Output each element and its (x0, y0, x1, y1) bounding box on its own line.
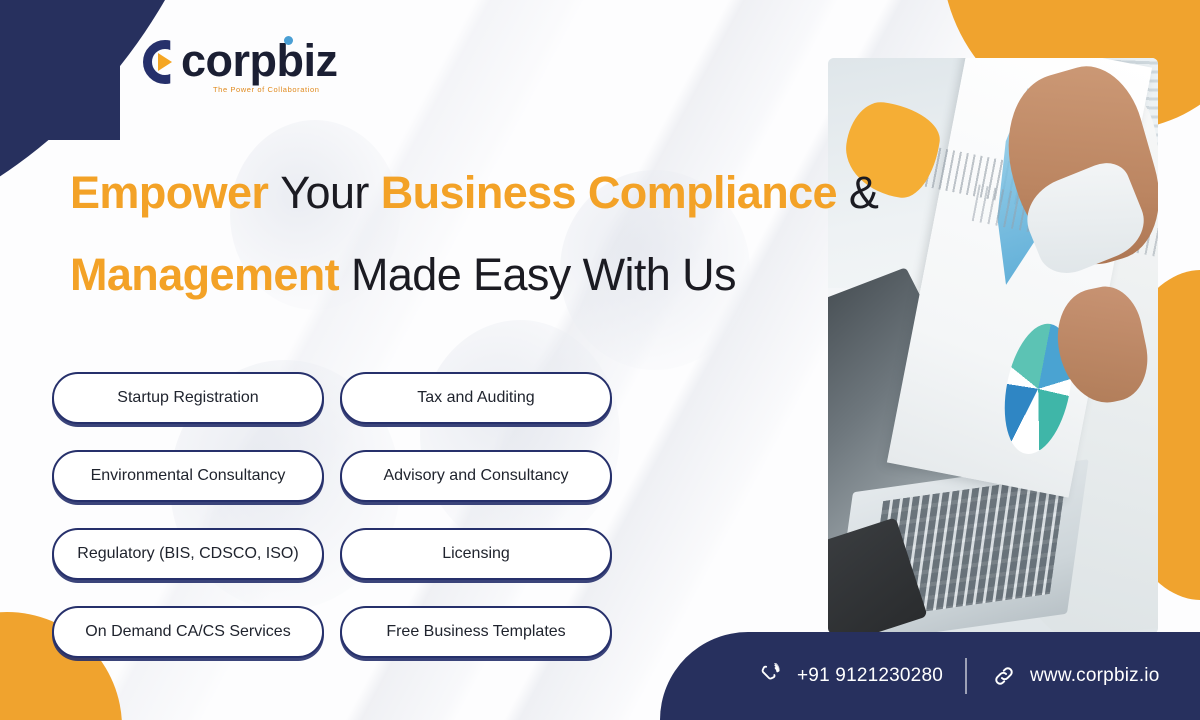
service-pill-environmental-consultancy[interactable]: Environmental Consultancy (52, 450, 324, 502)
contact-website[interactable]: www.corpbiz.io (989, 661, 1160, 691)
marketing-banner: corpbiz The Power of Collaboration Empow… (0, 0, 1200, 720)
logo-tagline: The Power of Collaboration (213, 85, 319, 94)
service-pill-licensing[interactable]: Licensing (340, 528, 612, 580)
headline-phrase-business-compliance: Business Compliance (381, 167, 837, 218)
contact-phone[interactable]: +91 9121230280 (756, 661, 943, 691)
contact-website-url: www.corpbiz.io (1030, 665, 1160, 687)
service-pill-tax-and-auditing[interactable]: Tax and Auditing (340, 372, 612, 424)
contact-divider (965, 658, 967, 694)
headline-word-your: Your (280, 167, 369, 218)
logo-blue-dot-icon (284, 36, 293, 45)
headline-line-1: Empower Your Business Compliance & (70, 152, 830, 234)
service-pill-free-business-templates[interactable]: Free Business Templates (340, 606, 612, 658)
headline-word-empower: Empower (70, 167, 268, 218)
headline-ampersand: & (849, 167, 878, 218)
headline-line-2: Management Made Easy With Us (70, 234, 830, 316)
logo-wordmark: corpbiz (181, 33, 338, 89)
service-pill-grid: Startup Registration Tax and Auditing En… (52, 372, 612, 658)
headline-phrase-made-easy: Made Easy With Us (351, 249, 736, 300)
phone-ringing-icon (756, 661, 786, 691)
headline: Empower Your Business Compliance & Manag… (70, 152, 830, 316)
contact-phone-number: +91 9121230280 (797, 665, 943, 687)
headline-word-management: Management (70, 249, 339, 300)
corpbiz-logo[interactable]: corpbiz The Power of Collaboration (143, 33, 343, 95)
contact-bar: +91 9121230280 www.corpbiz.io (660, 632, 1200, 720)
navy-corner-fill-top-left (0, 0, 120, 140)
service-pill-regulatory[interactable]: Regulatory (BIS, CDSCO, ISO) (52, 528, 324, 580)
service-pill-advisory-and-consultancy[interactable]: Advisory and Consultancy (340, 450, 612, 502)
service-pill-on-demand-ca-cs-services[interactable]: On Demand CA/CS Services (52, 606, 324, 658)
service-pill-startup-registration[interactable]: Startup Registration (52, 372, 324, 424)
link-chain-icon (989, 661, 1019, 691)
